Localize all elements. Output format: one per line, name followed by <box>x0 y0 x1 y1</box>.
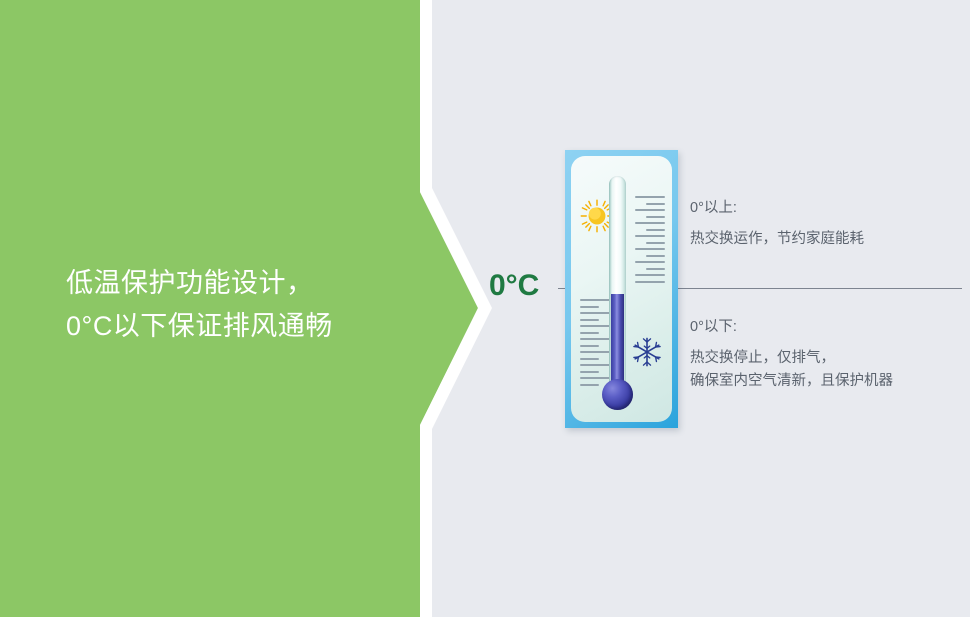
annotation-below-title: 0°以下: <box>690 316 968 338</box>
slide-canvas: 低温保护功能设计， 0°C以下保证排风通畅 0°C <box>0 0 970 617</box>
annotation-above-zero: 0°以上: 热交换运作，节约家庭能耗 <box>690 197 968 251</box>
thermometer-card <box>565 150 678 428</box>
thermometer-ticks-lower <box>580 299 610 390</box>
annotation-above-title: 0°以上: <box>690 197 968 219</box>
thermometer-card-inner <box>571 156 672 422</box>
annotation-below-zero: 0°以下: 热交换停止，仅排气， 确保室内空气清新，且保护机器 <box>690 316 968 393</box>
snowflake-icon <box>631 336 663 368</box>
thermometer-bulb <box>602 379 633 410</box>
zero-degree-label: 0°C <box>489 269 539 303</box>
annotation-above-body: 热交换运作，节约家庭能耗 <box>690 228 968 251</box>
headline-text: 低温保护功能设计， 0°C以下保证排风通畅 <box>66 262 406 348</box>
thermometer-ticks-upper <box>635 196 665 287</box>
annotation-below-body: 热交换停止，仅排气， 确保室内空气清新，且保护机器 <box>690 347 968 393</box>
